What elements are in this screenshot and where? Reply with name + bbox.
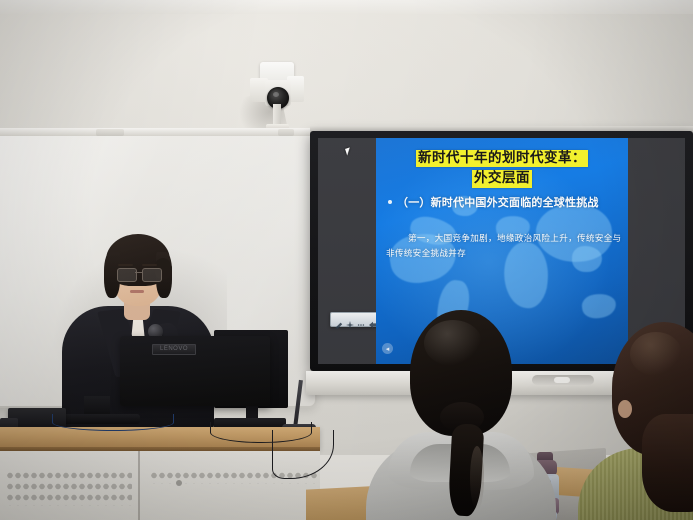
classroom-photo-scene: 新时代十年的划时代变革： 外交层面 （一）新时代中国外交面临的全球性挑战 第一，… — [0, 0, 693, 520]
cable-blue — [52, 414, 174, 431]
mouse-cursor-icon — [345, 147, 352, 155]
eyeglass-bridge — [135, 272, 142, 273]
student-front-hair-sheen — [424, 320, 482, 366]
slide-bullet-text: （一）新时代中国外交面临的全球性挑战 — [397, 194, 599, 210]
student-front — [366, 306, 556, 520]
whiteboard-top-rail — [0, 128, 313, 136]
eyeglass-lens-right — [142, 268, 162, 282]
slide-body-text: 第一，大国竞争加剧，地缘政治风险上升，传统安全与非传统安全挑战并存 — [386, 232, 622, 262]
student-right-ear — [618, 400, 632, 418]
slide-title-line-1: 新时代十年的划时代变革： — [416, 150, 588, 167]
student-right-hair-sheen — [630, 332, 682, 376]
slide-title-line-2: 外交层面 — [472, 170, 532, 187]
slide-title: 新时代十年的划时代变革： 外交层面 — [376, 148, 628, 189]
whiteboard-clip — [278, 129, 294, 136]
bullet-dot-icon — [388, 200, 392, 204]
desk-panel-seam — [138, 451, 140, 520]
student-front-hair-strand — [470, 446, 484, 510]
camera-arm — [273, 104, 281, 126]
student-right-hair — [642, 414, 693, 512]
instructor-eyebrow-left — [118, 264, 133, 266]
ceiling-camera — [249, 60, 305, 138]
pen-icon[interactable] — [335, 316, 343, 324]
monitor-brand-label: LENOVO — [152, 344, 196, 355]
instructor-mouth — [130, 290, 144, 293]
eyeglass-lens-left — [117, 268, 137, 282]
desk-perforation-left — [6, 470, 132, 506]
more-options-icon[interactable] — [357, 316, 365, 324]
slide-bullet-row: （一）新时代中国外交面临的全球性挑战 — [388, 194, 624, 210]
whiteboard-clip — [96, 129, 124, 136]
instructor-eyebrow-right — [142, 264, 157, 266]
desk-cabinet-knob[interactable] — [176, 480, 182, 486]
student-right — [588, 322, 693, 520]
podium-monitor: LENOVO — [120, 336, 270, 406]
pointer-options-icon[interactable] — [346, 316, 354, 324]
cable-hanging — [272, 430, 334, 479]
eyeglasses-icon — [116, 268, 162, 280]
